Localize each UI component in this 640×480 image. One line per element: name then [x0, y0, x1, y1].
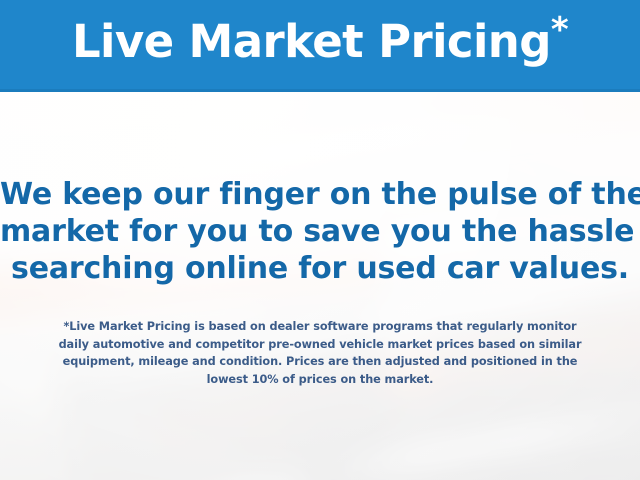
disclaimer-line-4: lowest 10% of prices on the market.	[22, 371, 618, 389]
headline-line-2: market for you to save you the hassle of	[0, 213, 640, 250]
page-title: Live Market Pricing*	[72, 19, 568, 64]
page-title-text: Live Market Pricing	[72, 15, 551, 68]
headline-line-3: searching online for used car values.	[0, 250, 640, 287]
disclaimer-text: *Live Market Pricing is based on dealer …	[22, 318, 618, 388]
asterisk-marker: *	[551, 10, 568, 50]
live-market-pricing-banner: Live Market Pricing* We keep our finger …	[0, 0, 640, 480]
headline: We keep our finger on the pulse of the m…	[0, 176, 640, 287]
headline-line-1: We keep our finger on the pulse of the	[0, 176, 640, 213]
disclaimer-line-2: daily automotive and competitor pre-owne…	[22, 336, 618, 354]
disclaimer-line-1: *Live Market Pricing is based on dealer …	[22, 318, 618, 336]
header-banner: Live Market Pricing*	[0, 0, 640, 92]
disclaimer-line-3: equipment, mileage and condition. Prices…	[22, 353, 618, 371]
